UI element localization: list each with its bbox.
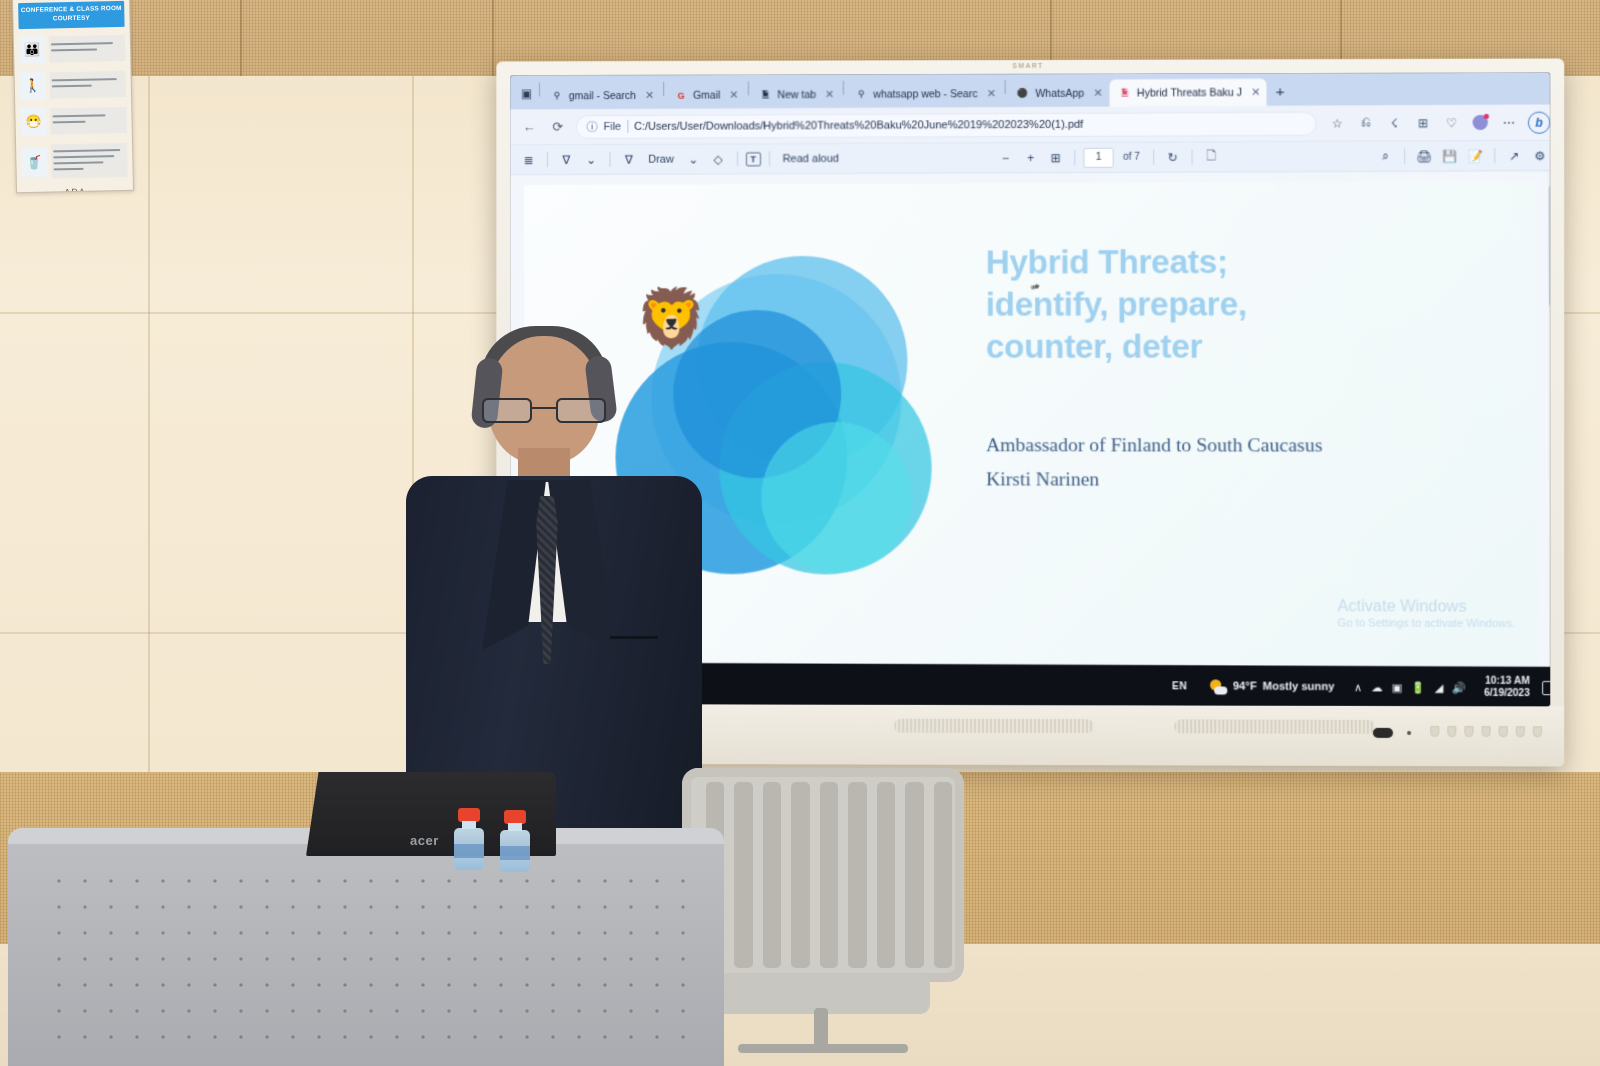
poster-title: CONFERENCE & CLASS ROOM COURTESY bbox=[18, 1, 125, 29]
board-bezel-buttons[interactable] bbox=[1430, 726, 1542, 737]
tab-whatsapp-search[interactable]: ⚲ whatsapp web - Searc ✕ bbox=[846, 80, 1002, 108]
speaker-grille-right bbox=[1174, 719, 1375, 734]
water-bottle bbox=[498, 810, 532, 872]
list-item: 👪 bbox=[19, 32, 126, 65]
title-line-2: identify, prepare, bbox=[986, 283, 1550, 326]
draw-label[interactable]: Draw bbox=[643, 153, 679, 165]
poster-rule-text bbox=[51, 143, 128, 179]
split-screen-icon[interactable]: ☇ bbox=[1385, 113, 1404, 132]
poster-rule-text bbox=[49, 35, 126, 63]
vertical-scrollbar[interactable]: ▲ ▼ bbox=[1548, 171, 1551, 667]
speaker-grille-left bbox=[894, 719, 1094, 733]
tab-label: gmail - Search bbox=[569, 89, 636, 101]
title-line-3: counter, deter bbox=[986, 326, 1550, 369]
browser-toolbar-icons: ☆ ⎌ ☇ ⊞ ♡ ⋯ b bbox=[1324, 111, 1551, 134]
search-icon: ⚲ bbox=[855, 88, 867, 100]
chair-mesh-slats bbox=[706, 782, 952, 968]
save-icon[interactable]: 💾 bbox=[1439, 145, 1461, 166]
sanitizer-icon: 🥤 bbox=[21, 147, 48, 177]
pdf-icon: 🗎 bbox=[1119, 87, 1131, 99]
wifi-icon[interactable]: ◢ bbox=[1435, 681, 1444, 694]
pdf-toolbar: ≣ ∇ ⌄ ∇ Draw ⌄ ◇ T Read aloud − + ⊞ bbox=[510, 141, 1550, 175]
conference-room-scene: CONFERENCE & CLASS ROOM COURTESY 👪 🚶 😷 bbox=[0, 0, 1600, 1066]
poster-rule-list: 👪 🚶 😷 🥤 bbox=[19, 32, 128, 182]
tab-label: New tab bbox=[777, 89, 816, 101]
tab-whatsapp[interactable]: ⚫ WhatsApp ✕ bbox=[1008, 79, 1109, 107]
print-icon[interactable]: 🖨 bbox=[1413, 145, 1435, 166]
notes-icon[interactable]: 📝 bbox=[1464, 145, 1486, 166]
zoom-in-button[interactable]: + bbox=[1020, 147, 1041, 168]
newtab-icon: 🗎 bbox=[759, 89, 771, 101]
onedrive-icon[interactable]: ☁ bbox=[1371, 681, 1382, 694]
highlight-icon[interactable]: ∇ bbox=[556, 149, 577, 170]
tab-label: Hybrid Threats Baku J bbox=[1137, 86, 1242, 99]
slide-title: Hybrid Threats; identify, prepare, count… bbox=[986, 240, 1550, 369]
activate-windows-watermark: Activate Windows Go to Settings to activ… bbox=[1337, 597, 1515, 630]
favorites-star-icon[interactable]: ☆ bbox=[1328, 113, 1347, 132]
partly-sunny-icon bbox=[1210, 679, 1227, 694]
settings-gear-icon[interactable]: ⚙ bbox=[1529, 145, 1550, 166]
list-item: 🚶 bbox=[19, 68, 126, 101]
tray-expand-icon[interactable]: ∧ bbox=[1354, 681, 1362, 694]
tab-new-tab[interactable]: 🗎 New tab ✕ bbox=[750, 81, 840, 108]
language-indicator[interactable]: EN bbox=[1160, 681, 1200, 692]
gmail-icon: G bbox=[675, 89, 687, 101]
add-text-icon[interactable]: T bbox=[746, 152, 761, 166]
weather-widget[interactable]: 94°F Mostly sunny bbox=[1199, 679, 1344, 695]
podium-perforation bbox=[46, 868, 694, 1046]
clock-widget[interactable]: 10:13 AM 6/19/2023 bbox=[1476, 675, 1538, 701]
search-icon: ⚲ bbox=[551, 90, 563, 102]
jacket-pocket bbox=[610, 636, 658, 639]
zoom-out-button[interactable]: − bbox=[995, 147, 1016, 168]
browser-tab-strip: ▣ ⚲ gmail - Search ✕ G Gmail ✕ bbox=[510, 73, 1550, 110]
close-icon[interactable]: ✕ bbox=[729, 88, 738, 101]
eraser-icon[interactable]: ◇ bbox=[708, 148, 729, 169]
browser-address-bar: ← ⟳ ⓘ File C:/Users/User/Downloads/Hybri… bbox=[510, 104, 1550, 145]
tab-label: whatsapp web - Searc bbox=[873, 88, 977, 101]
page-view-icon[interactable]: 🗋 bbox=[1201, 146, 1222, 167]
poster-rule-text bbox=[50, 107, 127, 135]
battery-icon[interactable]: 🔋 bbox=[1412, 681, 1426, 694]
draw-dropdown-icon[interactable]: ⌄ bbox=[683, 148, 704, 169]
board-led-indicator bbox=[1407, 731, 1411, 735]
list-item: 🥤 bbox=[21, 140, 128, 182]
subtitle-line-2: Kirsti Narinen bbox=[986, 463, 1550, 498]
page-total-label: of 7 bbox=[1118, 152, 1145, 163]
title-line-1: Hybrid Threats; bbox=[986, 240, 1550, 284]
scrollbar-thumb[interactable] bbox=[1549, 185, 1550, 306]
draw-icon[interactable]: ∇ bbox=[618, 149, 639, 170]
eyeglasses bbox=[480, 398, 608, 424]
board-camera bbox=[1373, 728, 1393, 738]
volume-icon[interactable]: 🔊 bbox=[1453, 681, 1467, 694]
system-tray: ∧ ☁ ▣ 🔋 ◢ 🔊 bbox=[1345, 681, 1476, 695]
close-icon[interactable]: ✕ bbox=[987, 87, 996, 100]
poster-rule-text bbox=[50, 71, 127, 99]
watermark-subtitle: Go to Settings to activate Windows. bbox=[1338, 617, 1516, 630]
notification-center-icon[interactable] bbox=[1542, 681, 1550, 695]
people-group-icon: 👪 bbox=[19, 35, 46, 65]
chair-backrest bbox=[682, 768, 964, 982]
add-tab-group-icon[interactable]: ⊞ bbox=[1413, 113, 1432, 132]
tab-label: WhatsApp bbox=[1035, 87, 1084, 99]
close-icon[interactable]: ✕ bbox=[1093, 87, 1102, 100]
fit-page-icon[interactable]: ⊞ bbox=[1045, 147, 1066, 168]
distance-icon: 🚶 bbox=[20, 71, 47, 101]
tab-gmail-search[interactable]: ⚲ gmail - Search ✕ bbox=[542, 82, 660, 109]
page-number-input[interactable]: 1 bbox=[1084, 147, 1114, 167]
tab-actions-icon[interactable]: ▣ bbox=[516, 83, 537, 104]
profile-avatar[interactable] bbox=[1470, 113, 1490, 132]
tab-gmail[interactable]: G Gmail ✕ bbox=[666, 81, 744, 108]
tab-label: Gmail bbox=[693, 89, 720, 101]
laptop-brand-label: acer bbox=[410, 833, 439, 848]
close-icon[interactable]: ✕ bbox=[645, 89, 654, 102]
highlight-dropdown-icon[interactable]: ⌄ bbox=[581, 149, 602, 170]
address-input[interactable]: ⓘ File C:/Users/User/Downloads/Hybrid%20… bbox=[576, 111, 1317, 138]
bing-copilot-icon[interactable]: b bbox=[1528, 111, 1550, 133]
list-item: 😷 bbox=[20, 104, 127, 137]
new-tab-button[interactable]: + bbox=[1268, 84, 1293, 106]
tab-hybrid-threats-pdf[interactable]: 🗎 Hybrid Threats Baku J ✕ bbox=[1110, 79, 1267, 107]
scheme-label: File bbox=[604, 120, 622, 132]
mask-icon: 😷 bbox=[20, 107, 47, 137]
browser-essentials-icon[interactable]: ♡ bbox=[1442, 113, 1461, 132]
more-options-icon[interactable]: ⋯ bbox=[1499, 113, 1519, 132]
whatsapp-icon: ⚫ bbox=[1017, 87, 1029, 99]
info-icon[interactable]: ⓘ bbox=[587, 119, 598, 135]
rotate-icon[interactable]: ↻ bbox=[1162, 146, 1183, 167]
close-icon[interactable]: ✕ bbox=[825, 88, 834, 101]
watermark-title: Activate Windows bbox=[1337, 597, 1515, 618]
collections-icon[interactable]: ⎌ bbox=[1356, 113, 1375, 132]
weather-description: Mostly sunny bbox=[1263, 681, 1335, 693]
back-arrow-icon[interactable]: ← bbox=[518, 116, 540, 138]
address-url-text: C:/Users/User/Downloads/Hybrid%20Threats… bbox=[634, 118, 1083, 132]
app-tray-icon[interactable]: ▣ bbox=[1392, 681, 1403, 694]
weather-temperature: 94°F bbox=[1233, 681, 1257, 693]
chair-base bbox=[738, 1044, 908, 1053]
slide-subtitle: Ambassador of Finland to South Caucasus … bbox=[986, 429, 1550, 497]
board-brand-label: SMART bbox=[1012, 63, 1043, 70]
read-aloud-button[interactable]: Read aloud bbox=[778, 152, 844, 164]
table-of-contents-icon[interactable]: ≣ bbox=[518, 149, 539, 170]
covid-courtesy-poster: CONFERENCE & CLASS ROOM COURTESY 👪 🚶 😷 bbox=[12, 0, 134, 193]
clock-date: 6/19/2023 bbox=[1484, 688, 1530, 701]
clock-time: 10:13 AM bbox=[1484, 675, 1530, 688]
fullscreen-icon[interactable]: ↗ bbox=[1503, 145, 1525, 166]
close-icon[interactable]: ✕ bbox=[1251, 86, 1260, 99]
search-icon[interactable]: ⌕ bbox=[1375, 146, 1396, 167]
water-bottle bbox=[452, 808, 486, 870]
refresh-icon[interactable]: ⟳ bbox=[547, 116, 569, 138]
subtitle-line-1: Ambassador of Finland to South Caucasus bbox=[986, 429, 1550, 463]
